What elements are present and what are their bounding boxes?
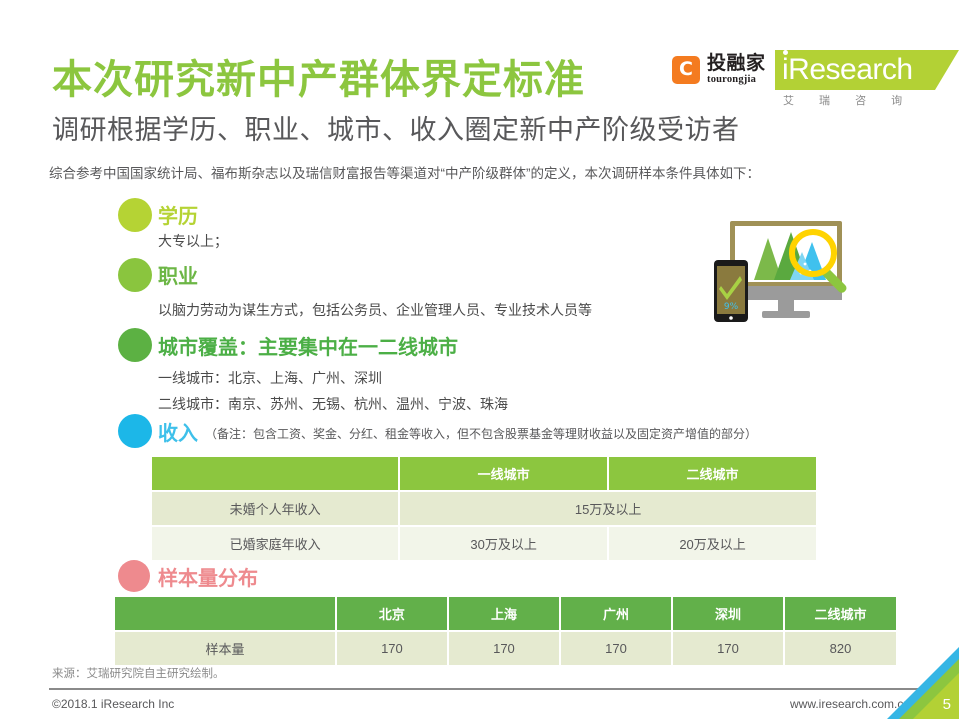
bullet-dot-income — [118, 414, 152, 448]
income-table-row: 已婚家庭年收入 30万及以上 20万及以上 — [152, 526, 816, 560]
sample-row-value-3: 170 — [672, 631, 784, 665]
criteria-title-sample: 样本量分布 — [158, 562, 258, 591]
iresearch-wordmark: iResearch — [782, 52, 913, 88]
tourongjia-mark-icon: C — [672, 56, 700, 84]
criteria-title-income: 收入 — [158, 417, 198, 446]
income-row-value-1-1: 20万及以上 — [608, 526, 816, 560]
income-row-label-1: 已婚家庭年收入 — [152, 526, 399, 560]
iresearch-name-cn: 艾 瑞 咨 询 — [783, 92, 913, 108]
sample-row-value-0: 170 — [336, 631, 448, 665]
bullet-dot-city — [118, 328, 152, 362]
sample-row-label: 样本量 — [115, 631, 336, 665]
sample-th-4: 深圳 — [672, 597, 784, 631]
corner-triangle-lime — [913, 673, 959, 719]
bullet-dot-education — [118, 198, 152, 232]
criteria-line-occupation-0: 以脑力劳动为谋生方式，包括公务员、企业管理人员、专业技术人员等 — [158, 300, 592, 320]
sample-row-value-4: 820 — [784, 631, 896, 665]
sample-row-value-2: 170 — [560, 631, 672, 665]
criteria-note-income: （备注：包含工资、奖金、分红、租金等收入，但不包含股票基金等理财收益以及固定资产… — [205, 425, 757, 442]
tourongjia-name-en: tourongjia — [707, 75, 766, 86]
criteria-line-city-0: 一线城市：北京、上海、广州、深圳 — [158, 368, 382, 388]
copyright-text: ©2018.1 iResearch Inc — [52, 697, 174, 711]
income-table-row: 未婚个人年收入 15万及以上 — [152, 491, 816, 526]
criteria-title-occupation: 职业 — [158, 260, 198, 289]
criteria-title-city: 城市覆盖：主要集中在一二线城市 — [158, 331, 458, 360]
corner-decoration: 5 — [887, 647, 959, 719]
income-th-2: 二线城市 — [608, 457, 816, 491]
source-note: 来源：艾瑞研究院自主研究绘制。 — [52, 665, 225, 681]
income-table: 一线城市 二线城市 未婚个人年收入 15万及以上 已婚家庭年收入 30万及以上 … — [152, 457, 816, 560]
sample-table-header-row: 北京 上海 广州 深圳 二线城市 — [115, 597, 896, 631]
sample-th-0 — [115, 597, 336, 631]
tourongjia-name-cn: 投融家 — [707, 54, 766, 73]
sample-th-5: 二线城市 — [784, 597, 896, 631]
sample-table: 北京 上海 广州 深圳 二线城市 样本量 170 170 170 170 820 — [115, 597, 896, 665]
income-row-merged-value-0: 15万及以上 — [399, 491, 816, 526]
research-illustration: 9% — [706, 208, 896, 326]
logo-zone: C 投融家 tourongjia iResearch 艾 瑞 咨 询 — [672, 28, 959, 106]
footer-divider — [49, 688, 929, 690]
sample-th-1: 北京 — [336, 597, 448, 631]
page-number: 5 — [943, 696, 951, 713]
page-subtitle: 调研根据学历、职业、城市、收入圈定新中产阶级受访者 — [52, 108, 740, 147]
sample-th-2: 上海 — [448, 597, 560, 631]
intro-paragraph: 综合参考中国国家统计局、福布斯杂志以及瑞信财富报告等渠道对“中产阶级群体”的定义… — [49, 164, 925, 184]
income-th-1: 一线城市 — [399, 457, 608, 491]
bullet-dot-occupation — [118, 258, 152, 292]
income-row-label-0: 未婚个人年收入 — [152, 491, 399, 526]
sample-th-3: 广州 — [560, 597, 672, 631]
page-title: 本次研究新中产群体界定标准 — [52, 47, 585, 105]
income-row-value-1-0: 30万及以上 — [399, 526, 608, 560]
sample-row-value-1: 170 — [448, 631, 560, 665]
tourongjia-mark-letter: C — [679, 60, 693, 79]
tourongjia-wordmark: 投融家 tourongjia — [707, 54, 766, 86]
slide: C 投融家 tourongjia iResearch 艾 瑞 咨 询 本次研究新… — [0, 0, 959, 719]
tourongjia-logo: C 投融家 tourongjia — [672, 54, 766, 86]
income-th-0 — [152, 457, 399, 491]
criteria-line-city-1: 二线城市：南京、苏州、无锡、杭州、温州、宁波、珠海 — [158, 394, 508, 414]
income-table-header-row: 一线城市 二线城市 — [152, 457, 816, 491]
criteria-line-education-0: 大专以上； — [158, 231, 228, 251]
bullet-dot-sample — [118, 560, 150, 592]
phone-illustration: 9% — [714, 260, 748, 322]
criteria-title-education: 学历 — [158, 200, 198, 229]
phone-percent-label: 9% — [724, 302, 739, 312]
sample-table-row: 样本量 170 170 170 170 820 — [115, 631, 896, 665]
